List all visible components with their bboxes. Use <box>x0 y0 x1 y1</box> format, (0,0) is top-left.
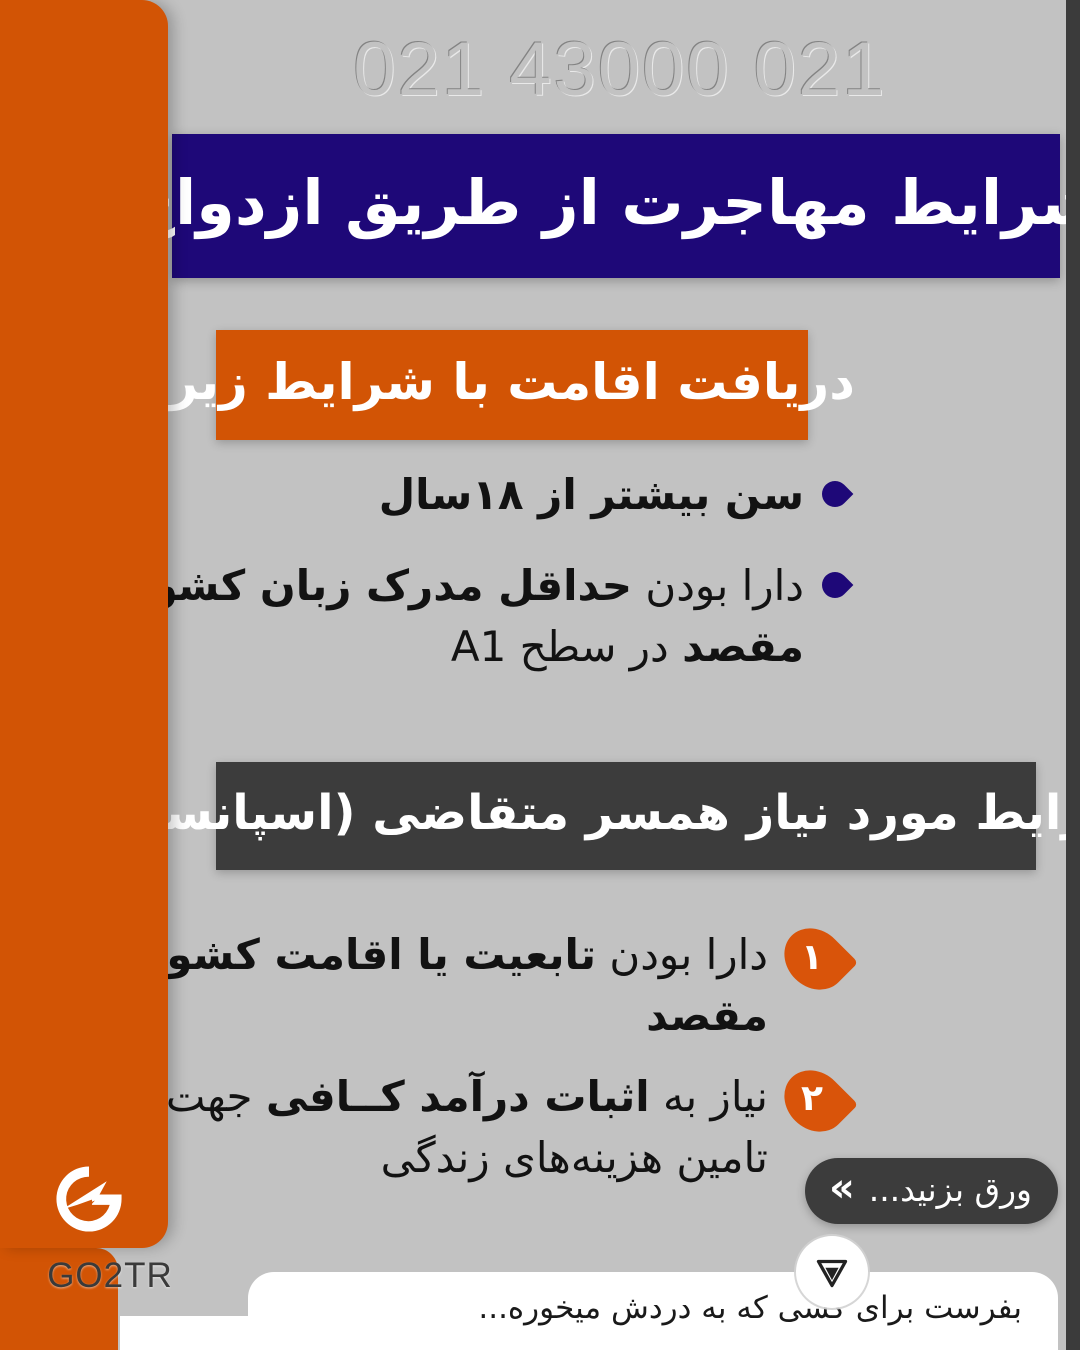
swipe-label: ورق بزنید... <box>869 1170 1032 1213</box>
list-item-lead: دارا بودن <box>632 561 804 610</box>
list-item: ۱ دارا بودن تابعیت یا اقامت کشور مقصد <box>100 925 848 1047</box>
brand-wordmark: GO2TR <box>30 1256 190 1296</box>
phone-watermark: 021 43000 021 <box>180 26 1060 113</box>
number-badge: ۱ <box>782 931 848 987</box>
double-chevron-icon: » <box>829 1168 855 1214</box>
swipe-next-button[interactable]: ورق بزنید... » <box>805 1158 1058 1224</box>
list-item: دارا بودن حداقل مدرک زبان کشور مقصد در س… <box>100 556 848 678</box>
list-item-text: دارا بودن حداقل مدرک زبان کشور مقصد در س… <box>114 556 804 678</box>
number-badge-label: ۱ <box>782 931 848 987</box>
right-edge-strip <box>1066 0 1080 1350</box>
list-item-text: دارا بودن تابعیت یا اقامت کشور مقصد <box>108 925 768 1047</box>
list-item-emphasis: سن بیشتر از ۱۸سال <box>379 470 804 519</box>
list-item: ۲ نیاز به اثبات درآمد کــافی جهت تامین ه… <box>100 1067 848 1189</box>
page-title: شرایط مهاجرت از طریق ازدواج <box>130 169 1080 243</box>
send-paper-plane-icon[interactable] <box>796 1236 868 1308</box>
section-banner-sponsor: شرایط مورد نیاز همسر متقاضی (اسپانسر) <box>216 762 1036 870</box>
number-badge-label: ۲ <box>782 1073 848 1129</box>
list-item-text: سن بیشتر از ۱۸سال <box>379 465 804 526</box>
number-badge: ۲ <box>782 1073 848 1129</box>
go2tr-plane-logo-icon <box>52 1162 126 1236</box>
list-item-lead: دارا بودن <box>596 930 768 979</box>
section-banner-label: دریافت اقامت با شرایط زیر <box>169 353 855 417</box>
sponsor-conditions-list: ۱ دارا بودن تابعیت یا اقامت کشور مقصد ۲ … <box>100 925 848 1209</box>
share-bubble[interactable]: بفرست برای کسی که به دردش میخوره... <box>248 1272 1058 1350</box>
list-item-tail: در سطح A1 <box>451 622 682 671</box>
brand-sidebar <box>0 0 168 1248</box>
list-item: سن بیشتر از ۱۸سال <box>100 465 848 526</box>
navy-teardrop-bullet-icon <box>817 567 854 604</box>
navy-teardrop-bullet-icon <box>817 476 854 513</box>
list-item-emphasis: اثبات درآمد کــافی <box>266 1072 650 1121</box>
section-banner-label: شرایط مورد نیاز همسر متقاضی (اسپانسر) <box>114 785 1080 847</box>
infographic-canvas: 021 43000 021 GO2TR شرایط مهاجرت از طریق… <box>0 0 1080 1350</box>
bubble-strip-left <box>120 1316 250 1350</box>
share-label: بفرست برای کسی که به دردش میخوره... <box>478 1290 1022 1332</box>
residency-conditions-list: سن بیشتر از ۱۸سال دارا بودن حداقل مدرک ز… <box>100 465 848 708</box>
title-band: شرایط مهاجرت از طریق ازدواج <box>172 134 1060 278</box>
list-item-text: نیاز به اثبات درآمد کــافی جهت تامین هزی… <box>108 1067 768 1189</box>
section-banner-residency: دریافت اقامت با شرایط زیر <box>216 330 808 440</box>
list-item-lead: نیاز به <box>650 1072 768 1121</box>
